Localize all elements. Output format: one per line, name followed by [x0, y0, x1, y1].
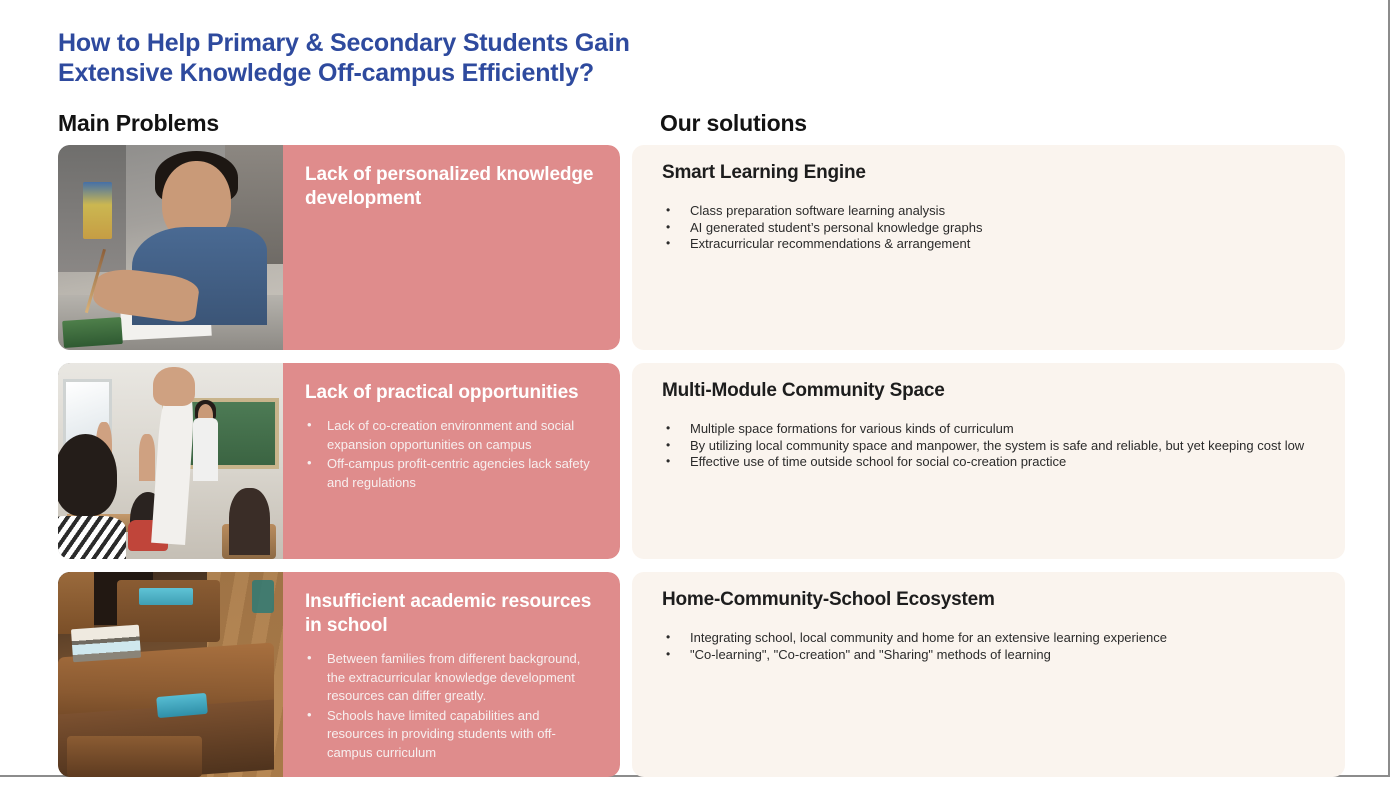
- solution-bullet: By utilizing local community space and m…: [662, 438, 1319, 455]
- problem-card-body: Lack of practical opportunities Lack of …: [283, 363, 620, 559]
- problem-card-title: Insufficient academic resources in schoo…: [305, 590, 598, 638]
- problem-bullet: Off-campus profit-centric agencies lack …: [305, 455, 598, 492]
- solution-card-bullets: Multiple space formations for various ki…: [662, 421, 1319, 471]
- problem-card-title: Lack of personalized knowledge developme…: [305, 163, 598, 211]
- solution-card[interactable]: Smart Learning Engine Class preparation …: [632, 145, 1345, 350]
- solution-card-bullets: Class preparation software learning anal…: [662, 203, 1319, 253]
- problem-card-bullets: Lack of co-creation environment and soci…: [305, 417, 598, 492]
- page-title: How to Help Primary & Secondary Students…: [58, 28, 818, 88]
- problem-card[interactable]: Lack of personalized knowledge developme…: [58, 145, 620, 350]
- problems-column: Lack of personalized knowledge developme…: [58, 145, 620, 790]
- solution-card[interactable]: Multi-Module Community Space Multiple sp…: [632, 363, 1345, 559]
- solution-bullet: Effective use of time outside school for…: [662, 454, 1319, 471]
- solutions-column-heading: Our solutions: [660, 110, 807, 137]
- boy-writing-at-desk-photo: [58, 145, 283, 350]
- page-title-line-1: How to Help Primary & Secondary Students…: [58, 28, 818, 58]
- solution-bullet: AI generated student’s personal knowledg…: [662, 220, 1319, 237]
- solutions-column: Smart Learning Engine Class preparation …: [632, 145, 1345, 790]
- solution-bullet: "Co-learning", "Co-creation" and "Sharin…: [662, 647, 1319, 664]
- solution-bullet: Extracurricular recommendations & arrang…: [662, 236, 1319, 253]
- problems-column-heading: Main Problems: [58, 110, 219, 137]
- problem-bullet: Between families from different backgrou…: [305, 650, 598, 706]
- solution-card-title: Smart Learning Engine: [662, 161, 1319, 185]
- solution-card-title: Home-Community-School Ecosystem: [662, 588, 1319, 612]
- solution-bullet: Class preparation software learning anal…: [662, 203, 1319, 220]
- problem-card-body: Insufficient academic resources in schoo…: [283, 572, 620, 777]
- problem-card[interactable]: Insufficient academic resources in schoo…: [58, 572, 620, 777]
- slide-canvas: How to Help Primary & Secondary Students…: [0, 0, 1390, 777]
- solution-card-title: Multi-Module Community Space: [662, 379, 1319, 403]
- problem-card[interactable]: Lack of practical opportunities Lack of …: [58, 363, 620, 559]
- wooden-school-desks-photo: [58, 572, 283, 777]
- problem-card-bullets: Between families from different backgrou…: [305, 650, 598, 762]
- solution-card-bullets: Integrating school, local community and …: [662, 630, 1319, 663]
- problem-card-title: Lack of practical opportunities: [305, 381, 598, 405]
- page-title-line-2: Extensive Knowledge Off-campus Efficient…: [58, 58, 818, 88]
- problem-card-body: Lack of personalized knowledge developme…: [283, 145, 620, 350]
- solution-card[interactable]: Home-Community-School Ecosystem Integrat…: [632, 572, 1345, 777]
- classroom-raised-hands-photo: [58, 363, 283, 559]
- problem-bullet: Lack of co-creation environment and soci…: [305, 417, 598, 454]
- solution-bullet: Multiple space formations for various ki…: [662, 421, 1319, 438]
- problem-bullet: Schools have limited capabilities and re…: [305, 707, 598, 763]
- solution-bullet: Integrating school, local community and …: [662, 630, 1319, 647]
